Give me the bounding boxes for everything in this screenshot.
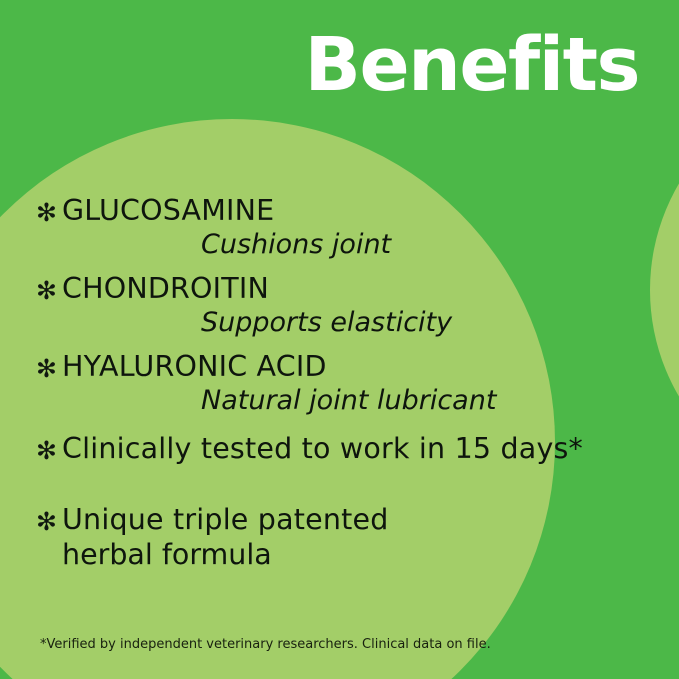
list-item: ✻ CHONDROITIN Supports elasticity <box>36 274 636 338</box>
flower-asterisk-icon: ✻ <box>36 200 62 225</box>
benefits-list: ✻ GLUCOSAMINE Cushions joint ✻ CHONDROIT… <box>36 196 636 574</box>
benefit-row: ✻ Clinically tested to work in 15 days* <box>36 434 636 465</box>
benefit-row: ✻ GLUCOSAMINE <box>36 196 636 227</box>
benefit-title: Unique triple patented <box>62 505 389 536</box>
benefit-title: GLUCOSAMINE <box>62 196 274 227</box>
footnote-disclaimer: *Verified by independent veterinary rese… <box>40 637 491 653</box>
list-item: ✻ GLUCOSAMINE Cushions joint <box>36 196 636 260</box>
benefit-subtitle: Natural joint lubricant <box>36 386 636 416</box>
benefit-row: ✻ CHONDROITIN <box>36 274 636 305</box>
right-accent-circle <box>650 80 679 500</box>
benefit-subtitle: Supports elasticity <box>36 308 636 338</box>
benefit-title: Clinically tested to work in 15 days* <box>62 434 583 465</box>
flower-asterisk-icon: ✻ <box>36 278 62 303</box>
list-item: ✻ Unique triple patented herbal formula <box>36 505 636 574</box>
benefits-poster: Benefits ✻ GLUCOSAMINE Cushions joint ✻ … <box>0 0 679 679</box>
list-item: ✻ Clinically tested to work in 15 days* <box>36 434 636 465</box>
benefit-title: HYALURONIC ACID <box>62 352 327 383</box>
list-item: ✻ HYALURONIC ACID Natural joint lubrican… <box>36 352 636 416</box>
benefit-title-line2: herbal formula <box>36 536 636 574</box>
benefit-row: ✻ Unique triple patented <box>36 505 636 536</box>
flower-asterisk-icon: ✻ <box>36 438 62 463</box>
flower-asterisk-icon: ✻ <box>36 509 62 534</box>
benefit-subtitle: Cushions joint <box>36 230 636 260</box>
flower-asterisk-icon: ✻ <box>36 356 62 381</box>
benefit-row: ✻ HYALURONIC ACID <box>36 352 636 383</box>
page-title: Benefits <box>305 28 639 102</box>
benefit-title: CHONDROITIN <box>62 274 269 305</box>
